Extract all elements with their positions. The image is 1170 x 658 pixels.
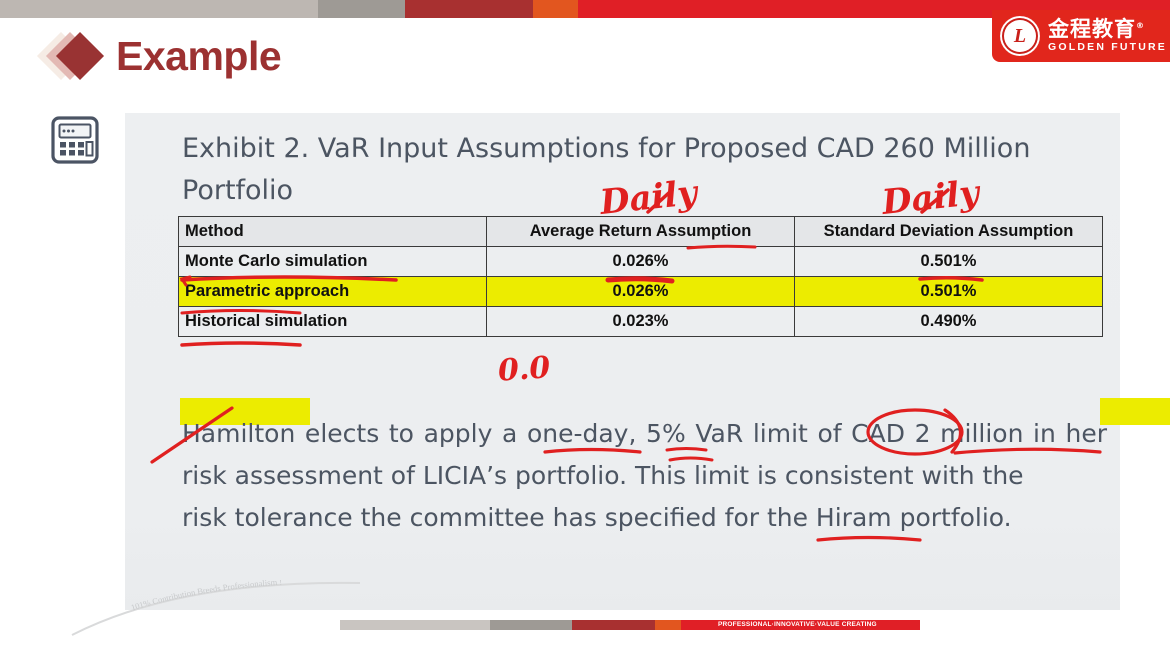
footer-tagline: PROFESSIONAL·INNOVATIVE·VALUE CREATING xyxy=(718,620,877,630)
logo-registered-mark: ® xyxy=(1136,21,1145,30)
cell-method: Parametric approach xyxy=(179,277,487,307)
brand-logo: L 金程教育® GOLDEN FUTURE xyxy=(992,10,1170,62)
footer-bar-segment-orange xyxy=(655,620,681,630)
footer-arc-text: 101% Contribution Breeds Professionalism… xyxy=(60,580,390,640)
footer-arc-label: 101% Contribution Breeds Professionalism… xyxy=(130,580,283,613)
cell-average-return: 0.023% xyxy=(487,307,795,337)
logo-chinese-name: 金程教育® xyxy=(1048,18,1167,40)
column-header-standard-deviation: Standard Deviation Assumption xyxy=(795,217,1103,247)
logo-chinese-text: 金程教育 xyxy=(1048,17,1136,41)
exhibit-title-line1: Exhibit 2. VaR Input Assumptions for Pro… xyxy=(182,133,1030,164)
paragraph-line1: Hamilton elects to apply a one-day, 5% V… xyxy=(182,419,1056,448)
table-row: Parametric approach 0.026% 0.501% xyxy=(179,277,1103,307)
table-header-row: Method Average Return Assumption Standar… xyxy=(179,217,1103,247)
top-bar-segment-gray xyxy=(318,0,405,18)
cell-average-return: 0.026% xyxy=(487,247,795,277)
cell-standard-deviation: 0.501% xyxy=(795,247,1103,277)
logo-english-name: GOLDEN FUTURE xyxy=(1048,41,1167,54)
highlight-bleed-right xyxy=(1100,398,1170,425)
table-row: Monte Carlo simulation 0.026% 0.501% xyxy=(179,247,1103,277)
slide-content-panel: Exhibit 2. VaR Input Assumptions for Pro… xyxy=(125,113,1120,610)
column-header-average-return: Average Return Assumption xyxy=(487,217,795,247)
page-title: Example xyxy=(116,33,281,80)
body-paragraph: Hamilton elects to apply a one-day, 5% V… xyxy=(182,413,1107,539)
logo-emblem-icon: L xyxy=(998,14,1042,58)
calculator-icon[interactable] xyxy=(50,115,100,165)
exhibit-title: Exhibit 2. VaR Input Assumptions for Pro… xyxy=(182,128,1107,212)
table-row: Historical simulation 0.023% 0.490% xyxy=(179,307,1103,337)
cell-method: Historical simulation xyxy=(179,307,487,337)
cell-standard-deviation: 0.490% xyxy=(795,307,1103,337)
var-assumptions-table: Method Average Return Assumption Standar… xyxy=(178,216,1103,337)
logo-emblem-letter: L xyxy=(1014,26,1026,46)
top-bar-segment-orange xyxy=(533,0,578,18)
footer-bar-segment-light-gray xyxy=(340,620,490,630)
diamond-icon xyxy=(44,27,106,85)
paragraph-line3: risk tolerance the committee has specifi… xyxy=(182,497,1107,539)
cell-standard-deviation: 0.501% xyxy=(795,277,1103,307)
logo-text: 金程教育® GOLDEN FUTURE xyxy=(1048,18,1167,54)
top-bar-segment-light-gray xyxy=(0,0,318,18)
cell-method: Monte Carlo simulation xyxy=(179,247,487,277)
top-bar-segment-dark-red xyxy=(405,0,533,18)
footer-bar-segment-dark-red xyxy=(572,620,655,630)
svg-text:101% Contribution Breeds Profe: 101% Contribution Breeds Professionalism… xyxy=(130,580,283,613)
slide-title-row: Example xyxy=(44,22,281,90)
column-header-method: Method xyxy=(179,217,487,247)
exhibit-title-line2: Portfolio xyxy=(182,170,1107,212)
footer-bar-segment-gray xyxy=(490,620,572,630)
cell-average-return: 0.026% xyxy=(487,277,795,307)
